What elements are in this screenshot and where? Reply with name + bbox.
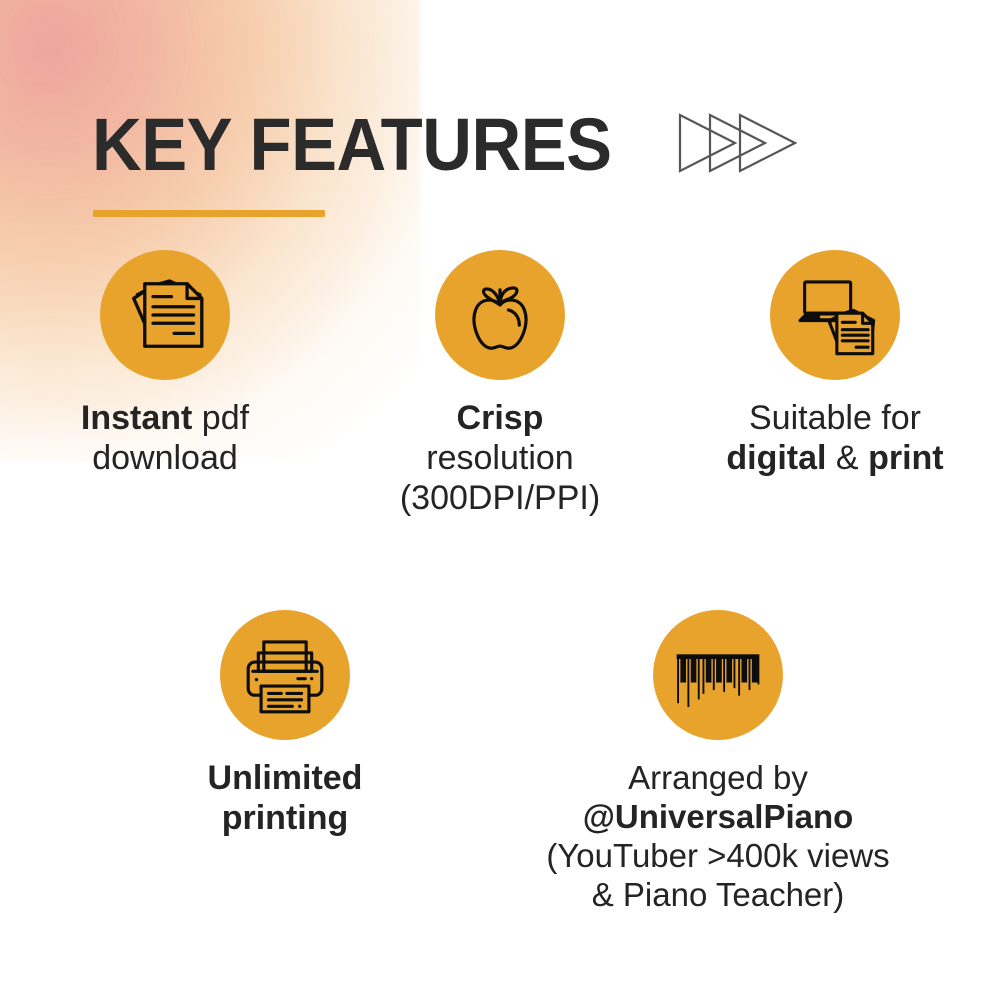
title-underline [93, 210, 325, 217]
caption-line: download [81, 438, 249, 478]
key-features-panel: KEY FEATURES [0, 0, 1000, 1000]
caption-emphasis: Instant [81, 399, 192, 437]
feature-caption: Instant pdfdownload [81, 398, 249, 478]
caption-emphasis: Crisp [457, 399, 544, 437]
caption-line: Instant pdf [81, 398, 249, 438]
caption-text: Arranged by [628, 759, 808, 796]
caption-emphasis: @UniversalPiano [583, 798, 854, 835]
caption-text: resolution [426, 439, 573, 477]
feature-crisp-resolution: Crispresolution(300DPI/PPI) [330, 250, 670, 518]
documents-stack-icon [100, 250, 230, 380]
caption-emphasis: print [868, 439, 944, 477]
caption-line: & Piano Teacher) [546, 875, 889, 914]
caption-line: resolution [400, 438, 600, 478]
caption-line: printing [208, 798, 363, 838]
caption-text: Suitable for [749, 399, 921, 437]
caption-line: Crisp [400, 398, 600, 438]
apple-icon [435, 250, 565, 380]
triple-chevron-right-icon [677, 112, 797, 179]
page-header: KEY FEATURES [92, 108, 797, 182]
caption-text: & Piano Teacher) [592, 876, 845, 913]
piano-keyboard-icon [653, 610, 783, 740]
features-row-1: Instant pdfdownload Crispresolution(300D… [0, 250, 1000, 518]
feature-caption: Unlimitedprinting [208, 758, 363, 838]
caption-line: Suitable for [726, 398, 943, 438]
feature-unlimited-printing: Unlimitedprinting [140, 610, 430, 914]
page-title: KEY FEATURES [92, 108, 612, 182]
caption-line: Unlimited [208, 758, 363, 798]
caption-text: (YouTuber >400k views [546, 837, 889, 874]
caption-line: @UniversalPiano [546, 797, 889, 836]
caption-emphasis: printing [222, 799, 349, 837]
caption-line: (YouTuber >400k views [546, 836, 889, 875]
feature-caption: Arranged by@UniversalPiano(YouTuber >400… [546, 758, 889, 914]
caption-line: digital & print [726, 438, 943, 478]
caption-line: (300DPI/PPI) [400, 478, 600, 518]
printer-icon [220, 610, 350, 740]
feature-caption: Crispresolution(300DPI/PPI) [400, 398, 600, 518]
feature-caption: Suitable fordigital & print [726, 398, 943, 478]
caption-text: download [92, 439, 238, 477]
feature-suitable-digital-print: Suitable fordigital & print [670, 250, 1000, 518]
caption-emphasis: Unlimited [208, 759, 363, 797]
caption-text: & [826, 439, 868, 477]
caption-emphasis: digital [726, 439, 826, 477]
caption-text: (300DPI/PPI) [400, 479, 600, 517]
feature-instant-pdf-download: Instant pdfdownload [0, 250, 330, 518]
feature-arranged-by-universalpiano: Arranged by@UniversalPiano(YouTuber >400… [503, 610, 933, 914]
caption-line: Arranged by [546, 758, 889, 797]
caption-text: pdf [192, 399, 249, 437]
laptop-and-documents-icon [770, 250, 900, 380]
features-row-2: Unlimitedprinting [0, 610, 1000, 914]
